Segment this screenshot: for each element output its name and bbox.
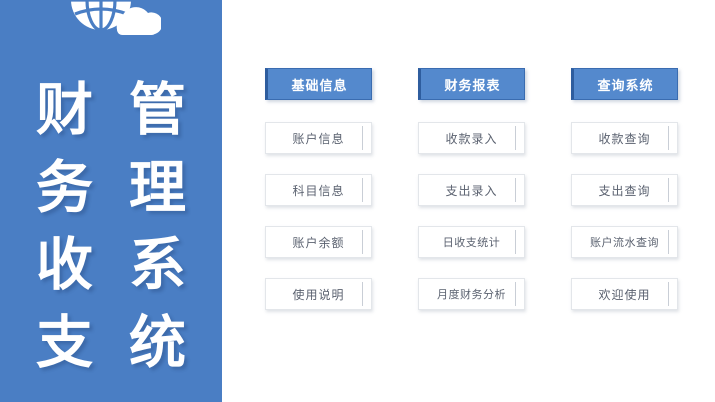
- menu-item-label: 欢迎使用: [598, 286, 650, 303]
- menu-item-label: 收款录入: [445, 130, 497, 147]
- brand-char: 务: [36, 160, 93, 217]
- menu-item-label: 科目信息: [292, 182, 344, 199]
- menu-item-receipt-entry[interactable]: 收款录入: [418, 122, 525, 154]
- menu-item-label: 收款查询: [598, 130, 650, 147]
- app-root: 财 管 务 理 收 系 支 统 基础信息 账户信息 科目信息: [0, 0, 715, 402]
- divider-line: [668, 282, 669, 306]
- menu-item-daily-income-expense-stats[interactable]: 日收支统计: [418, 226, 525, 258]
- brand-char: 系: [129, 237, 186, 294]
- menu-item-account-balance[interactable]: 账户余额: [265, 226, 372, 258]
- menu-item-welcome[interactable]: 欢迎使用: [571, 278, 678, 310]
- menu-item-label: 月度财务分析: [437, 286, 506, 302]
- menu-header-query-system[interactable]: 查询系统: [571, 68, 678, 100]
- divider-line: [668, 230, 669, 254]
- divider-line: [362, 230, 363, 254]
- menu-item-expense-query[interactable]: 支出查询: [571, 174, 678, 206]
- menu-item-receipt-query[interactable]: 收款查询: [571, 122, 678, 154]
- menu-item-account-transaction-query[interactable]: 账户流水查询: [571, 226, 678, 258]
- brand-char: 收: [36, 237, 93, 294]
- brand-char: 财: [36, 82, 93, 139]
- divider-line: [362, 126, 363, 150]
- menu-item-label: 使用说明: [292, 286, 344, 303]
- divider-line: [362, 282, 363, 306]
- menu-item-account-info[interactable]: 账户信息: [265, 122, 372, 154]
- divider-line: [515, 282, 516, 306]
- menu-header-basic-info[interactable]: 基础信息: [265, 68, 372, 100]
- menu-item-label: 支出录入: [445, 182, 497, 199]
- menu-item-label: 账户余额: [292, 234, 344, 251]
- menu-item-expense-entry[interactable]: 支出录入: [418, 174, 525, 206]
- menu-item-subject-info[interactable]: 科目信息: [265, 174, 372, 206]
- brand-char: 管: [129, 82, 186, 139]
- brand-char: 统: [129, 315, 186, 372]
- divider-line: [668, 178, 669, 202]
- divider-line: [362, 178, 363, 202]
- divider-line: [515, 230, 516, 254]
- main-panel: 基础信息 账户信息 科目信息 账户余额 使用说明: [222, 0, 715, 402]
- menu-column-financial-reports: 财务报表 收款录入 支出录入 日收支统计 月度财务分析: [418, 68, 525, 310]
- divider-line: [515, 126, 516, 150]
- menu-item-label: 支出查询: [598, 182, 650, 199]
- menu-item-label: 日收支统计: [443, 234, 501, 250]
- menu-item-label: 账户流水查询: [590, 234, 659, 250]
- menu-header-financial-reports[interactable]: 财务报表: [418, 68, 525, 100]
- menu-item-label: 账户信息: [292, 130, 344, 147]
- menu-column-query-system: 查询系统 收款查询 支出查询 账户流水查询 欢迎使用: [571, 68, 678, 310]
- sidebar: 财 管 务 理 收 系 支 统: [0, 0, 222, 402]
- menu-item-usage-instructions[interactable]: 使用说明: [265, 278, 372, 310]
- menu-column-basic-info: 基础信息 账户信息 科目信息 账户余额 使用说明: [265, 68, 372, 310]
- divider-line: [515, 178, 516, 202]
- menu-columns: 基础信息 账户信息 科目信息 账户余额 使用说明: [265, 68, 678, 310]
- menu-item-monthly-financial-analysis[interactable]: 月度财务分析: [418, 278, 525, 310]
- divider-line: [668, 126, 669, 150]
- brand-char: 支: [36, 315, 93, 372]
- brand-char: 理: [129, 160, 186, 217]
- globe-cloud-icon: [57, 0, 161, 46]
- brand-title: 财 管 务 理 收 系 支 统: [0, 72, 222, 382]
